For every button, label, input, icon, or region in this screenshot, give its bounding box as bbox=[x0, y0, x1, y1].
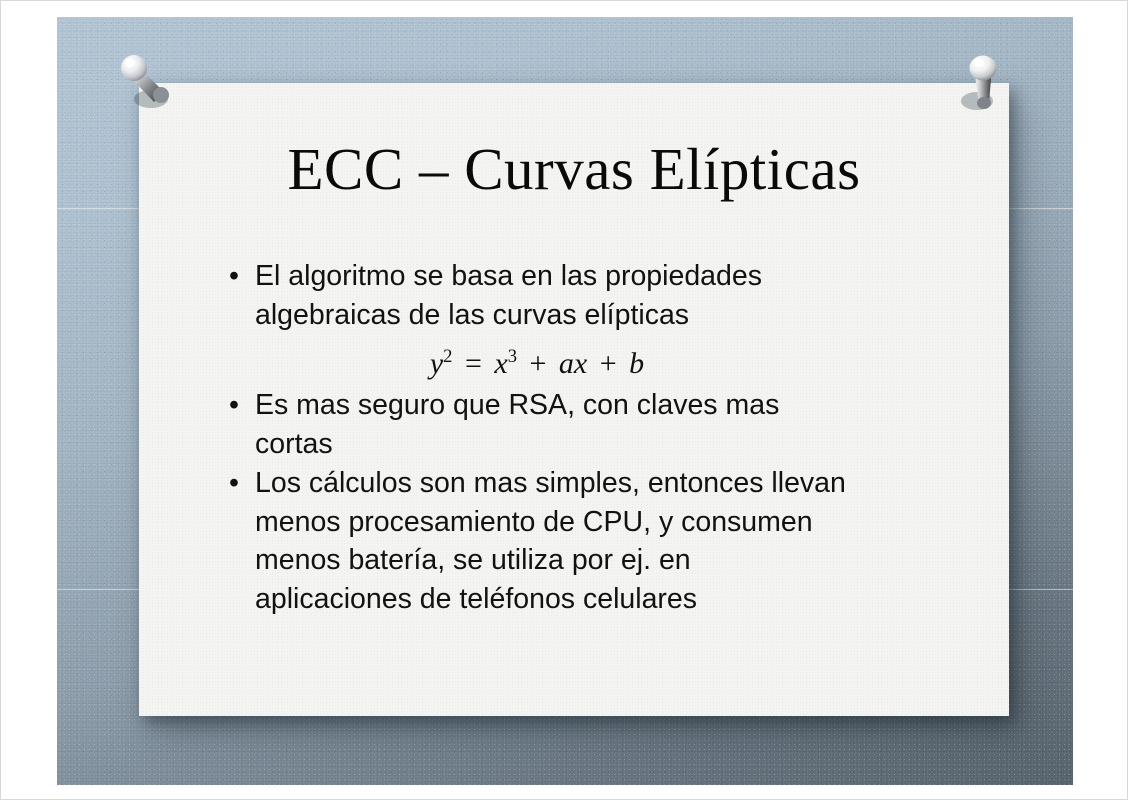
bullet-item-2: • Es mas seguro que RSA, con claves mas … bbox=[225, 386, 969, 463]
bullet-dot-icon: • bbox=[229, 257, 239, 296]
bullet-text-3: Los cálculos son mas simples, entonces l… bbox=[255, 464, 855, 618]
slide-title: ECC – Curvas Elípticas bbox=[139, 139, 1009, 201]
equation-elliptic-curve: y2 = x3 + ax + b bbox=[225, 335, 969, 386]
equation-equals: = bbox=[460, 347, 487, 380]
equation-rhs-cubic: x3 bbox=[494, 347, 517, 380]
equation-plus-2: + bbox=[595, 347, 622, 380]
bullet-item-3: • Los cálculos son mas simples, entonces… bbox=[225, 464, 969, 618]
equation-term-b: b bbox=[629, 347, 644, 380]
bullet-dot-icon: • bbox=[229, 464, 239, 503]
bullet-dot-icon: • bbox=[229, 386, 239, 425]
slide-paper-card: ECC – Curvas Elípticas • El algoritmo se… bbox=[139, 83, 1009, 716]
equation-plus-1: + bbox=[525, 347, 552, 380]
slide-body-list: • El algoritmo se basa en las propiedade… bbox=[225, 257, 969, 619]
bullet-text-1: El algoritmo se basa en las propiedades … bbox=[255, 257, 855, 334]
bullet-text-2: Es mas seguro que RSA, con claves mas co… bbox=[255, 386, 855, 463]
slide-frame: ECC – Curvas Elípticas • El algoritmo se… bbox=[0, 0, 1128, 800]
equation-term-ax: ax bbox=[559, 347, 587, 380]
bullet-item-1: • El algoritmo se basa en las propiedade… bbox=[225, 257, 969, 334]
equation-lhs: y2 bbox=[430, 347, 453, 380]
